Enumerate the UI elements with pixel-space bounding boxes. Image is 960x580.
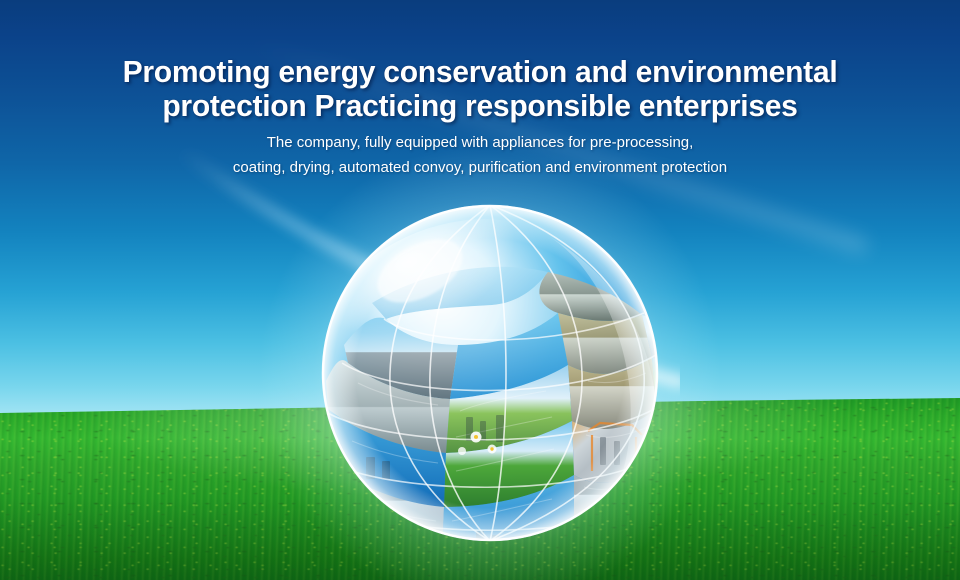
photo-mosaic-globe (300, 185, 680, 560)
headline-line-2: protection Practicing responsible enterp… (14, 89, 945, 123)
tile-limb-3 (656, 409, 678, 463)
globe-svg (300, 185, 680, 560)
headline-line-1: Promoting energy conservation and enviro… (14, 55, 945, 89)
promo-banner: Promoting energy conservation and enviro… (0, 0, 960, 580)
tile-limb-4 (652, 461, 676, 509)
page-title: Promoting energy conservation and enviro… (14, 55, 945, 123)
subheadline-line-2: coating, drying, automated convoy, purif… (0, 155, 960, 180)
page-subtitle: The company, fully equipped with applian… (0, 130, 960, 180)
subheadline-line-1: The company, fully equipped with applian… (0, 130, 960, 155)
tile-r6-c3 (572, 509, 652, 560)
